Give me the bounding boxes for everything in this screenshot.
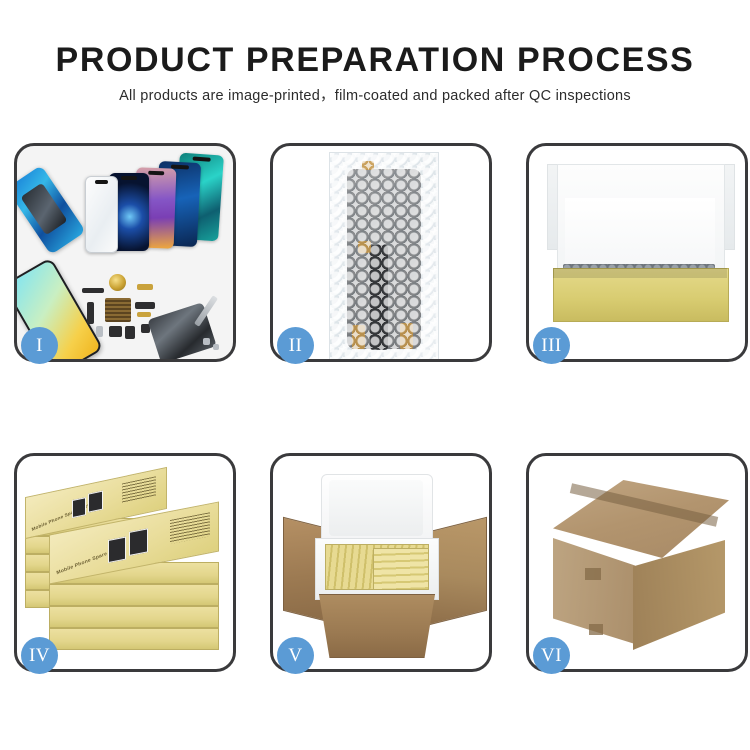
box-label-spec-lines — [122, 476, 156, 503]
bubble-texture — [330, 153, 438, 361]
screw-part — [213, 344, 219, 350]
gold-contact-part — [137, 312, 151, 317]
stacked-boxes-photo: Mobile Phone Spare Parts Mobile Phone Sp… — [17, 456, 233, 669]
carton-with-foam-box-photo — [273, 456, 489, 669]
box-label-screen-thumb — [72, 497, 86, 518]
stacked-box-front-3 — [49, 606, 219, 628]
bubble-wrapped-part-photo — [273, 146, 489, 359]
screw-part — [203, 338, 210, 345]
box-label-screen-thumb — [108, 537, 126, 563]
open-inner-box-photo — [529, 146, 745, 359]
phone-parts-photo — [17, 146, 233, 359]
carton-right-face — [633, 540, 725, 650]
step-badge-5[interactable]: V — [277, 637, 314, 674]
carton-front-wall — [311, 594, 443, 658]
foam-box-lid-inner — [329, 480, 423, 536]
yellow-boxes-inside-right — [373, 548, 429, 590]
flex-cable-part — [87, 302, 94, 324]
carton-tape-lower — [589, 624, 603, 635]
button-part — [109, 326, 122, 337]
phone-notch-icon — [121, 176, 138, 180]
step-badge-3[interactable]: III — [533, 327, 570, 364]
box-label-spec-lines — [170, 512, 210, 544]
tray-inner-shadow — [553, 268, 727, 278]
vibration-motor-part — [109, 274, 126, 291]
step-badge-4[interactable]: IV — [21, 637, 58, 674]
bubble-wrap-bag — [329, 152, 439, 362]
sealed-carton-photo — [529, 456, 745, 669]
stacked-box-front-4 — [49, 628, 219, 650]
box-label-screen-thumb — [129, 528, 148, 556]
chip-grid-part — [105, 298, 131, 322]
sim-tray-part — [96, 326, 103, 337]
carton-tape-upper — [585, 568, 601, 580]
speaker-mesh-part — [82, 288, 104, 293]
camera-module-part — [135, 302, 155, 309]
phone-notch-icon — [148, 171, 165, 176]
step-badge-2[interactable]: II — [277, 327, 314, 364]
front-glass-panel — [85, 176, 118, 253]
taptic-engine-part — [125, 326, 135, 339]
step-badge-6[interactable]: VI — [533, 637, 570, 674]
stacked-box-front-2 — [49, 584, 219, 606]
white-foam-sheet — [565, 198, 715, 270]
process-steps-grid: Mobile phone screens, front glass panels… — [0, 0, 750, 750]
phone-notch-icon — [95, 180, 108, 184]
gold-connector-part — [137, 284, 153, 290]
box-label-screen-thumb — [88, 491, 103, 513]
step-badge-1[interactable]: I — [21, 327, 58, 364]
phone-notch-icon — [192, 156, 211, 161]
